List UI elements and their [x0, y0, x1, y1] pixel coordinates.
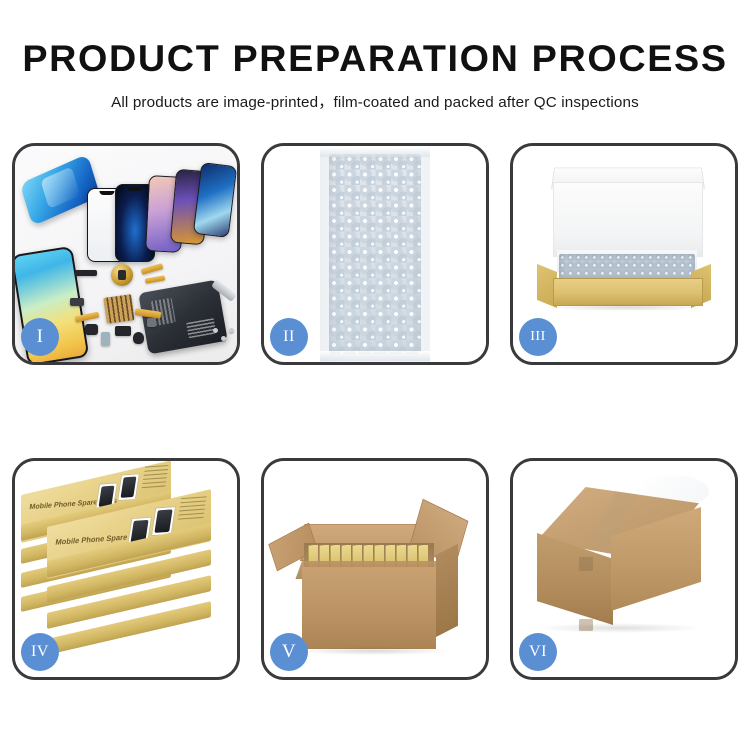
- drop-shadow: [535, 623, 703, 633]
- pouch-seal-top: [320, 147, 430, 157]
- bubble-wrapped-contents: [559, 254, 695, 280]
- gold-coil-part: [111, 264, 133, 286]
- small-component: [115, 326, 131, 336]
- step-badge-3: III: [519, 318, 557, 356]
- box-spec-lines: [141, 465, 168, 491]
- small-component: [101, 332, 110, 346]
- pouch-seal-bottom: [320, 351, 430, 361]
- ic-chip: [103, 294, 134, 324]
- small-component: [70, 298, 84, 306]
- drop-shadow: [549, 304, 705, 311]
- step-panel-2: II: [261, 143, 489, 365]
- step-panel-3: III: [510, 143, 738, 365]
- product-preparation-infographic: PRODUCT PREPARATION PROCESS All products…: [0, 0, 750, 750]
- step-badge-1: I: [21, 318, 59, 356]
- small-component: [133, 332, 144, 344]
- bubble-wrap-texture: [329, 154, 421, 354]
- process-steps-grid: I II: [12, 143, 738, 683]
- small-component: [75, 270, 97, 276]
- header: PRODUCT PREPARATION PROCESS All products…: [0, 0, 750, 112]
- step-badge-5: V: [270, 633, 308, 671]
- box-spec-lines: [177, 496, 206, 522]
- notch: [99, 191, 114, 195]
- step-badge-6: VI: [519, 633, 557, 671]
- small-component: [147, 318, 156, 327]
- step-panel-1: I: [12, 143, 240, 365]
- page-title: PRODUCT PREPARATION PROCESS: [0, 0, 750, 79]
- screw: [229, 328, 234, 333]
- page-subtitle: All products are image-printed，film-coat…: [0, 79, 750, 112]
- screw: [221, 336, 226, 341]
- carton-seam-mark: [579, 557, 593, 571]
- screw: [213, 328, 218, 333]
- carton-front-face: [302, 567, 436, 649]
- step-badge-4: IV: [21, 633, 59, 671]
- box-front-panel: [553, 278, 703, 306]
- box-back-wall: [553, 182, 703, 257]
- step-badge-2: II: [270, 318, 308, 356]
- step-panel-6: VI: [510, 458, 738, 680]
- small-component: [85, 324, 98, 335]
- box-phone-image: [117, 473, 140, 501]
- notch: [127, 187, 142, 191]
- step-panel-4: Mobile Phone Spare Parts Mobile Phone Sp…: [12, 458, 240, 680]
- carton-side-face: [436, 544, 458, 637]
- step-panel-5: V: [261, 458, 489, 680]
- drop-shadow: [298, 647, 448, 655]
